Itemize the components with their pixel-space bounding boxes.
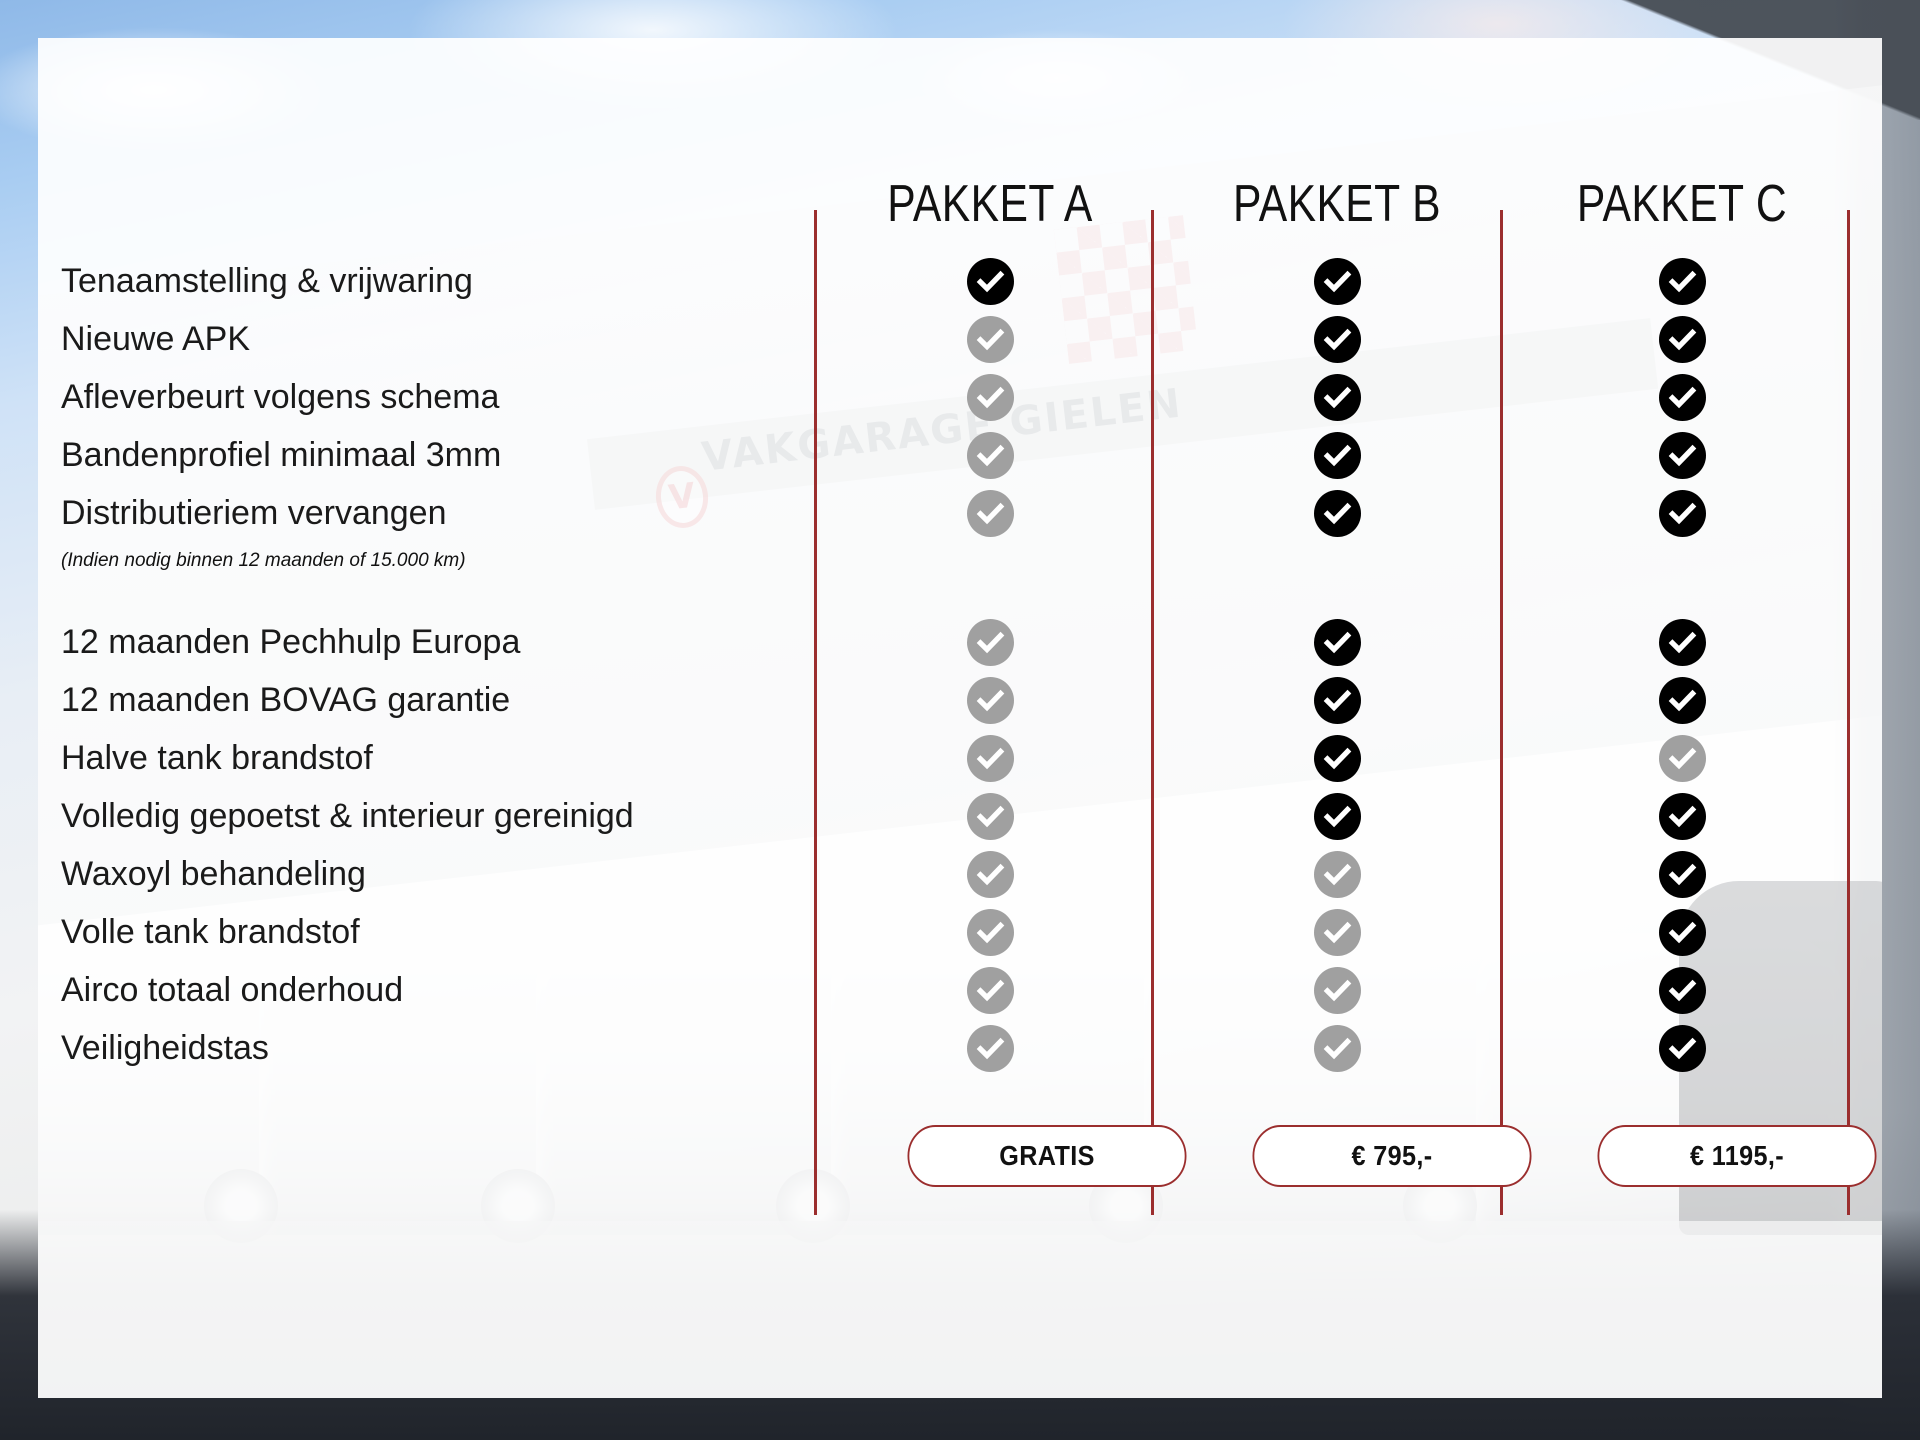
pricing-card: VAKGARAGE GIELEN PAKKET APAKKET BPAKKET …: [38, 38, 1882, 1398]
feature-label: Bandenprofiel minimaal 3mm: [61, 426, 821, 484]
check-excluded-icon: [967, 432, 1014, 479]
column-header-a: PAKKET A: [859, 174, 1121, 234]
check-cell: [1522, 426, 1842, 484]
column-divider-2: [1151, 210, 1154, 1215]
check-cell: [830, 310, 1150, 368]
check-included-icon: [1659, 432, 1706, 479]
feature-label: 12 maanden BOVAG garantie: [61, 671, 821, 729]
check-included-icon: [1314, 374, 1361, 421]
feature-label: Nieuwe APK: [61, 310, 821, 368]
check-cell: [830, 671, 1150, 729]
check-cell-spacer: [1177, 542, 1497, 580]
check-cell: [1522, 368, 1842, 426]
check-cell: [830, 787, 1150, 845]
check-cell-spacer: [830, 542, 1150, 580]
feature-label-column: Tenaamstelling & vrijwaringNieuwe APKAfl…: [61, 252, 821, 1077]
check-included-icon: [1314, 258, 1361, 305]
check-excluded-icon: [967, 677, 1014, 724]
check-cell: [1522, 671, 1842, 729]
check-excluded-icon: [1314, 851, 1361, 898]
check-cell: [830, 1019, 1150, 1077]
check-included-icon: [1314, 316, 1361, 363]
check-cell: [1177, 961, 1497, 1019]
check-cell: [830, 961, 1150, 1019]
column-divider-3: [1500, 210, 1503, 1215]
check-included-icon: [1659, 258, 1706, 305]
check-excluded-icon: [967, 793, 1014, 840]
check-included-icon: [1659, 1025, 1706, 1072]
check-included-icon: [1659, 316, 1706, 363]
check-cell: [1177, 903, 1497, 961]
column-header-c: PAKKET C: [1551, 174, 1813, 234]
check-cell: [830, 903, 1150, 961]
feature-label: Volledig gepoetst & interieur gereinigd: [61, 787, 821, 845]
check-excluded-icon: [1314, 967, 1361, 1014]
feature-label: Afleverbeurt volgens schema: [61, 368, 821, 426]
column-divider-4: [1847, 210, 1850, 1215]
price-button-a[interactable]: GRATIS: [908, 1125, 1187, 1187]
check-excluded-icon: [967, 619, 1014, 666]
check-cell: [1177, 729, 1497, 787]
check-cell: [1522, 613, 1842, 671]
check-excluded-icon: [967, 967, 1014, 1014]
feature-label: Halve tank brandstof: [61, 729, 821, 787]
check-cell: [1177, 1019, 1497, 1077]
check-cell: [1177, 787, 1497, 845]
check-column-a: [830, 252, 1150, 1077]
check-included-icon: [1659, 851, 1706, 898]
check-excluded-icon: [1314, 1025, 1361, 1072]
feature-label: Tenaamstelling & vrijwaring: [61, 252, 821, 310]
check-excluded-icon: [967, 490, 1014, 537]
check-included-icon: [967, 258, 1014, 305]
price-button-b[interactable]: € 795,-: [1253, 1125, 1532, 1187]
feature-label: Veiligheidstas: [61, 1019, 821, 1077]
check-excluded-icon: [1314, 909, 1361, 956]
feature-label: Waxoyl behandeling: [61, 845, 821, 903]
check-cell: [830, 613, 1150, 671]
check-cell: [1177, 252, 1497, 310]
feature-footnote: (Indien nodig binnen 12 maanden of 15.00…: [61, 542, 821, 580]
feature-label: Distributieriem vervangen: [61, 484, 821, 542]
check-cell: [1177, 671, 1497, 729]
check-excluded-icon: [967, 316, 1014, 363]
check-included-icon: [1659, 374, 1706, 421]
check-excluded-icon: [967, 851, 1014, 898]
check-included-icon: [1314, 490, 1361, 537]
check-cell: [1177, 484, 1497, 542]
check-included-icon: [1659, 490, 1706, 537]
check-cell: [830, 484, 1150, 542]
check-included-icon: [1659, 793, 1706, 840]
group-spacer: [61, 580, 821, 613]
check-cell: [830, 368, 1150, 426]
feature-label: Airco totaal onderhoud: [61, 961, 821, 1019]
check-included-icon: [1314, 677, 1361, 724]
check-cell: [830, 729, 1150, 787]
check-cell: [1522, 310, 1842, 368]
check-cell: [1522, 729, 1842, 787]
feature-label: Volle tank brandstof: [61, 903, 821, 961]
check-cell: [1522, 961, 1842, 1019]
check-cell: [1522, 845, 1842, 903]
price-button-c[interactable]: € 1195,-: [1598, 1125, 1877, 1187]
check-cell: [1522, 903, 1842, 961]
check-excluded-icon: [1659, 735, 1706, 782]
check-cell: [830, 426, 1150, 484]
check-cell: [1522, 1019, 1842, 1077]
check-cell: [1522, 484, 1842, 542]
check-cell-spacer: [1522, 542, 1842, 580]
check-included-icon: [1314, 619, 1361, 666]
check-included-icon: [1314, 793, 1361, 840]
column-header-b: PAKKET B: [1206, 174, 1468, 234]
check-cell: [1177, 310, 1497, 368]
check-cell: [1177, 845, 1497, 903]
check-group-spacer: [1522, 580, 1842, 613]
check-included-icon: [1659, 909, 1706, 956]
check-included-icon: [1659, 967, 1706, 1014]
check-excluded-icon: [967, 735, 1014, 782]
check-column-c: [1522, 252, 1842, 1077]
check-column-b: [1177, 252, 1497, 1077]
check-cell: [1522, 252, 1842, 310]
check-included-icon: [1659, 619, 1706, 666]
check-excluded-icon: [967, 909, 1014, 956]
check-cell: [1177, 368, 1497, 426]
check-cell: [1177, 613, 1497, 671]
check-cell: [830, 845, 1150, 903]
check-cell: [1522, 787, 1842, 845]
check-excluded-icon: [967, 374, 1014, 421]
check-group-spacer: [830, 580, 1150, 613]
check-included-icon: [1314, 432, 1361, 479]
check-cell: [830, 252, 1150, 310]
feature-label: 12 maanden Pechhulp Europa: [61, 613, 821, 671]
check-excluded-icon: [967, 1025, 1014, 1072]
check-included-icon: [1659, 677, 1706, 724]
check-cell: [1177, 426, 1497, 484]
check-included-icon: [1314, 735, 1361, 782]
check-group-spacer: [1177, 580, 1497, 613]
